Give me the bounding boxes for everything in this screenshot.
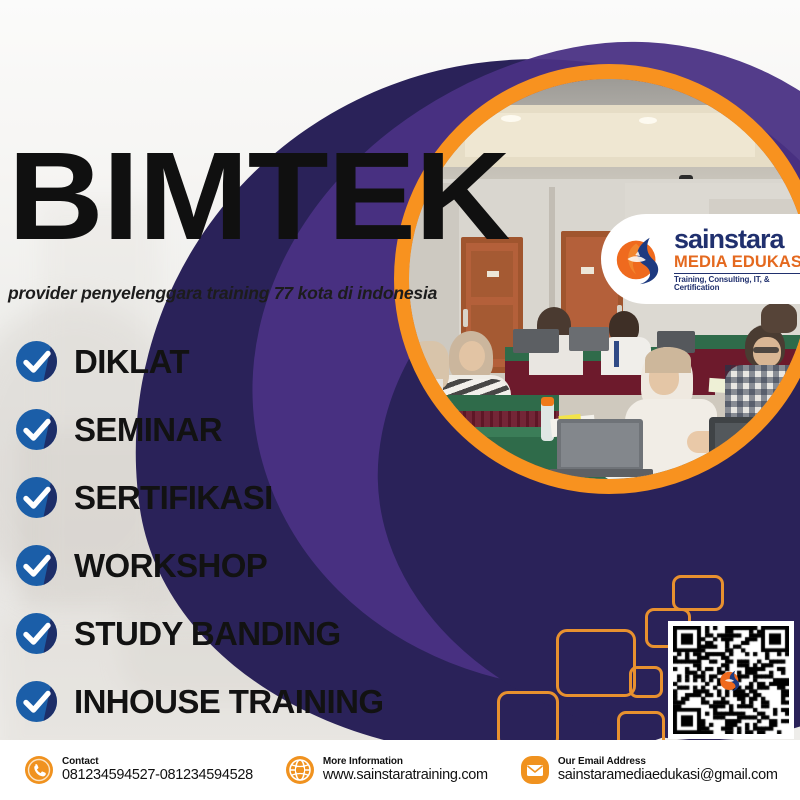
brand-logo: sainstara MEDIA EDUKASI Training, Consul…: [601, 214, 800, 304]
page-subtitle: provider penyelenggara training 77 kota …: [8, 283, 437, 304]
footer-label: Our Email Address: [558, 756, 778, 767]
decorative-square: [629, 666, 663, 698]
check-circle-icon: [16, 477, 57, 518]
footer-website: More Information www.sainstaratraining.c…: [285, 755, 488, 785]
list-item-label: SERTIFIKASI: [74, 481, 273, 514]
logo-subtitle: MEDIA EDUKASI: [674, 254, 800, 271]
qr-code[interactable]: [668, 621, 794, 739]
sainstara-flame-icon: [718, 667, 744, 693]
list-item-label: DIKLAT: [74, 345, 189, 378]
logo-tagline: Training, Consulting, IT, & Certificatio…: [674, 276, 800, 292]
footer-value: sainstaramediaedukasi@gmail.com: [558, 767, 778, 783]
list-item-label: SEMINAR: [74, 413, 222, 446]
footer-label: Contact: [62, 756, 253, 767]
phone-icon: [24, 755, 54, 785]
footer-value: www.sainstaratraining.com: [323, 767, 488, 783]
decorative-square: [556, 629, 636, 697]
check-circle-icon: [16, 613, 57, 654]
check-circle-icon: [16, 409, 57, 450]
list-item: STUDY BANDING: [16, 599, 486, 667]
logo-name: sainstara: [674, 226, 800, 253]
list-item: SEMINAR: [16, 395, 486, 463]
poster-canvas: sainstara MEDIA EDUKASI Training, Consul…: [0, 0, 800, 800]
footer-bar: Contact 081234594527-081234594528 More I…: [0, 740, 800, 800]
check-circle-icon: [16, 545, 57, 586]
footer-value: 081234594527-081234594528: [62, 767, 253, 783]
envelope-icon: [520, 755, 550, 785]
check-circle-icon: [16, 341, 57, 382]
footer-email: Our Email Address sainstaramediaedukasi@…: [520, 755, 778, 785]
page-title: BIMTEK: [8, 139, 510, 254]
sainstara-flame-icon: [611, 230, 669, 288]
list-item: WORKSHOP: [16, 531, 486, 599]
list-item-label: WORKSHOP: [74, 549, 267, 582]
globe-icon: [285, 755, 315, 785]
list-item: DIKLAT: [16, 327, 486, 395]
service-checklist: DIKLAT SEMINAR SERTIFIKASI WORKSHOP: [16, 327, 486, 735]
footer-label: More Information: [323, 756, 488, 767]
list-item: INHOUSE TRAINING: [16, 667, 486, 735]
check-circle-icon: [16, 681, 57, 722]
footer-contact: Contact 081234594527-081234594528: [24, 755, 253, 785]
list-item-label: STUDY BANDING: [74, 617, 341, 650]
list-item: SERTIFIKASI: [16, 463, 486, 531]
logo-rule: [674, 273, 800, 274]
decorative-square: [672, 575, 724, 611]
list-item-label: INHOUSE TRAINING: [74, 685, 383, 718]
